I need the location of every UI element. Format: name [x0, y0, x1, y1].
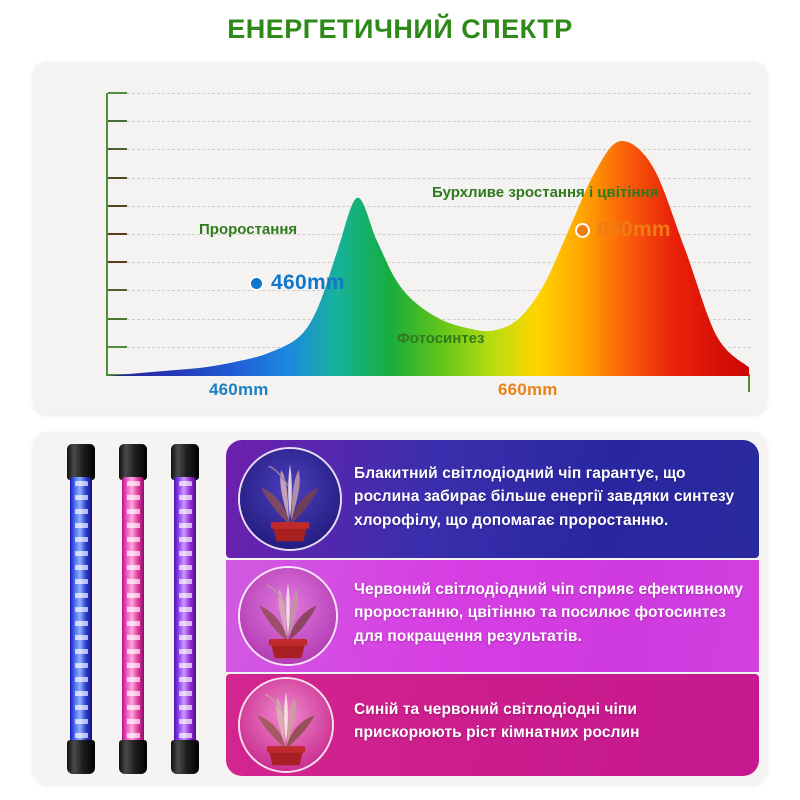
plant-image	[240, 679, 332, 771]
feature-text-blue-chip: Блакитний світлодіодний чіп гарантує, що…	[354, 462, 749, 532]
tube-body	[70, 477, 92, 743]
page-title: ЕНЕРГЕТИЧНИЙ СПЕКТР	[0, 14, 800, 45]
feature-panel-red-chip: Червоний світлодіодний чіп сприяє ефекти…	[226, 560, 759, 672]
chart-inner: 1009080706050403020100	[33, 62, 767, 414]
feature-line: проростанню, цвітінню та посилює фотосин…	[354, 601, 749, 624]
led-chips	[127, 481, 140, 739]
orange-dot-icon	[575, 223, 590, 238]
plant-image	[240, 449, 340, 549]
led-tubes-group	[51, 444, 219, 774]
feature-line: прискорюють ріст кімнатних рослин	[354, 721, 749, 744]
feature-line: Блакитний світлодіодний чіп гарантує, що	[354, 462, 749, 485]
pink-led-tube	[117, 444, 149, 774]
x-axis-end-tick	[748, 374, 750, 392]
tube-body	[122, 477, 144, 743]
feature-text-red-chip: Червоний світлодіодний чіп сприяє ефекти…	[354, 578, 749, 648]
marker-460mm-label: 460mm	[271, 271, 345, 295]
marker-460mm: 460mm	[249, 271, 345, 295]
tube-cap-bottom	[67, 740, 95, 774]
feature-line: рослина забирає більше енергії завдяки с…	[354, 485, 749, 508]
blue-led-tube	[65, 444, 97, 774]
plant-thumbnail	[238, 677, 334, 773]
spectrum-infographic: ЕНЕРГЕТИЧНИЙ СПЕКТР 10090807060504030201…	[0, 0, 800, 800]
led-chips	[179, 481, 192, 739]
annotation-photosynthesis: Фотосинтез	[397, 330, 484, 347]
plant-thumbnail	[238, 447, 342, 551]
blue-dot-icon	[249, 276, 264, 291]
tube-cap-top	[171, 444, 199, 480]
tube-cap-bottom	[119, 740, 147, 774]
plant-thumbnail	[238, 566, 338, 666]
feature-panel-blue-red-chip: Синій та червоний світлодіодні чіпи прис…	[226, 674, 759, 776]
feature-line: Синій та червоний світлодіодні чіпи	[354, 698, 749, 721]
tube-body	[174, 477, 196, 743]
marker-660mm: 660mm	[575, 218, 671, 242]
x-tick-label-660mm: 660mm	[498, 380, 558, 400]
tube-cap-top	[119, 444, 147, 480]
plant-image	[240, 568, 336, 664]
annotation-germination: Проростання	[199, 221, 297, 238]
marker-660mm-label: 660mm	[597, 218, 671, 242]
spectrum-chart-card: 1009080706050403020100	[33, 62, 767, 414]
feature-panel-blue-chip: Блакитний світлодіодний чіп гарантує, що…	[226, 440, 759, 558]
feature-panels: Блакитний світлодіодний чіп гарантує, що…	[226, 440, 759, 776]
features-card: Блакитний світлодіодний чіп гарантує, що…	[33, 432, 767, 784]
feature-line: хлорофілу, що допомагає проростанню.	[354, 509, 749, 532]
tube-cap-top	[67, 444, 95, 480]
purple-led-tube	[169, 444, 201, 774]
led-chips	[75, 481, 88, 739]
tube-cap-bottom	[171, 740, 199, 774]
x-tick-label-460mm: 460mm	[209, 380, 269, 400]
feature-line: Червоний світлодіодний чіп сприяє ефекти…	[354, 578, 749, 601]
annotation-growth-flowering: Бурхливе зростання і цвітіння	[432, 184, 658, 201]
feature-text-blue-red-chip: Синій та червоний світлодіодні чіпи прис…	[354, 698, 749, 745]
feature-line: для покращення результатів.	[354, 625, 749, 648]
